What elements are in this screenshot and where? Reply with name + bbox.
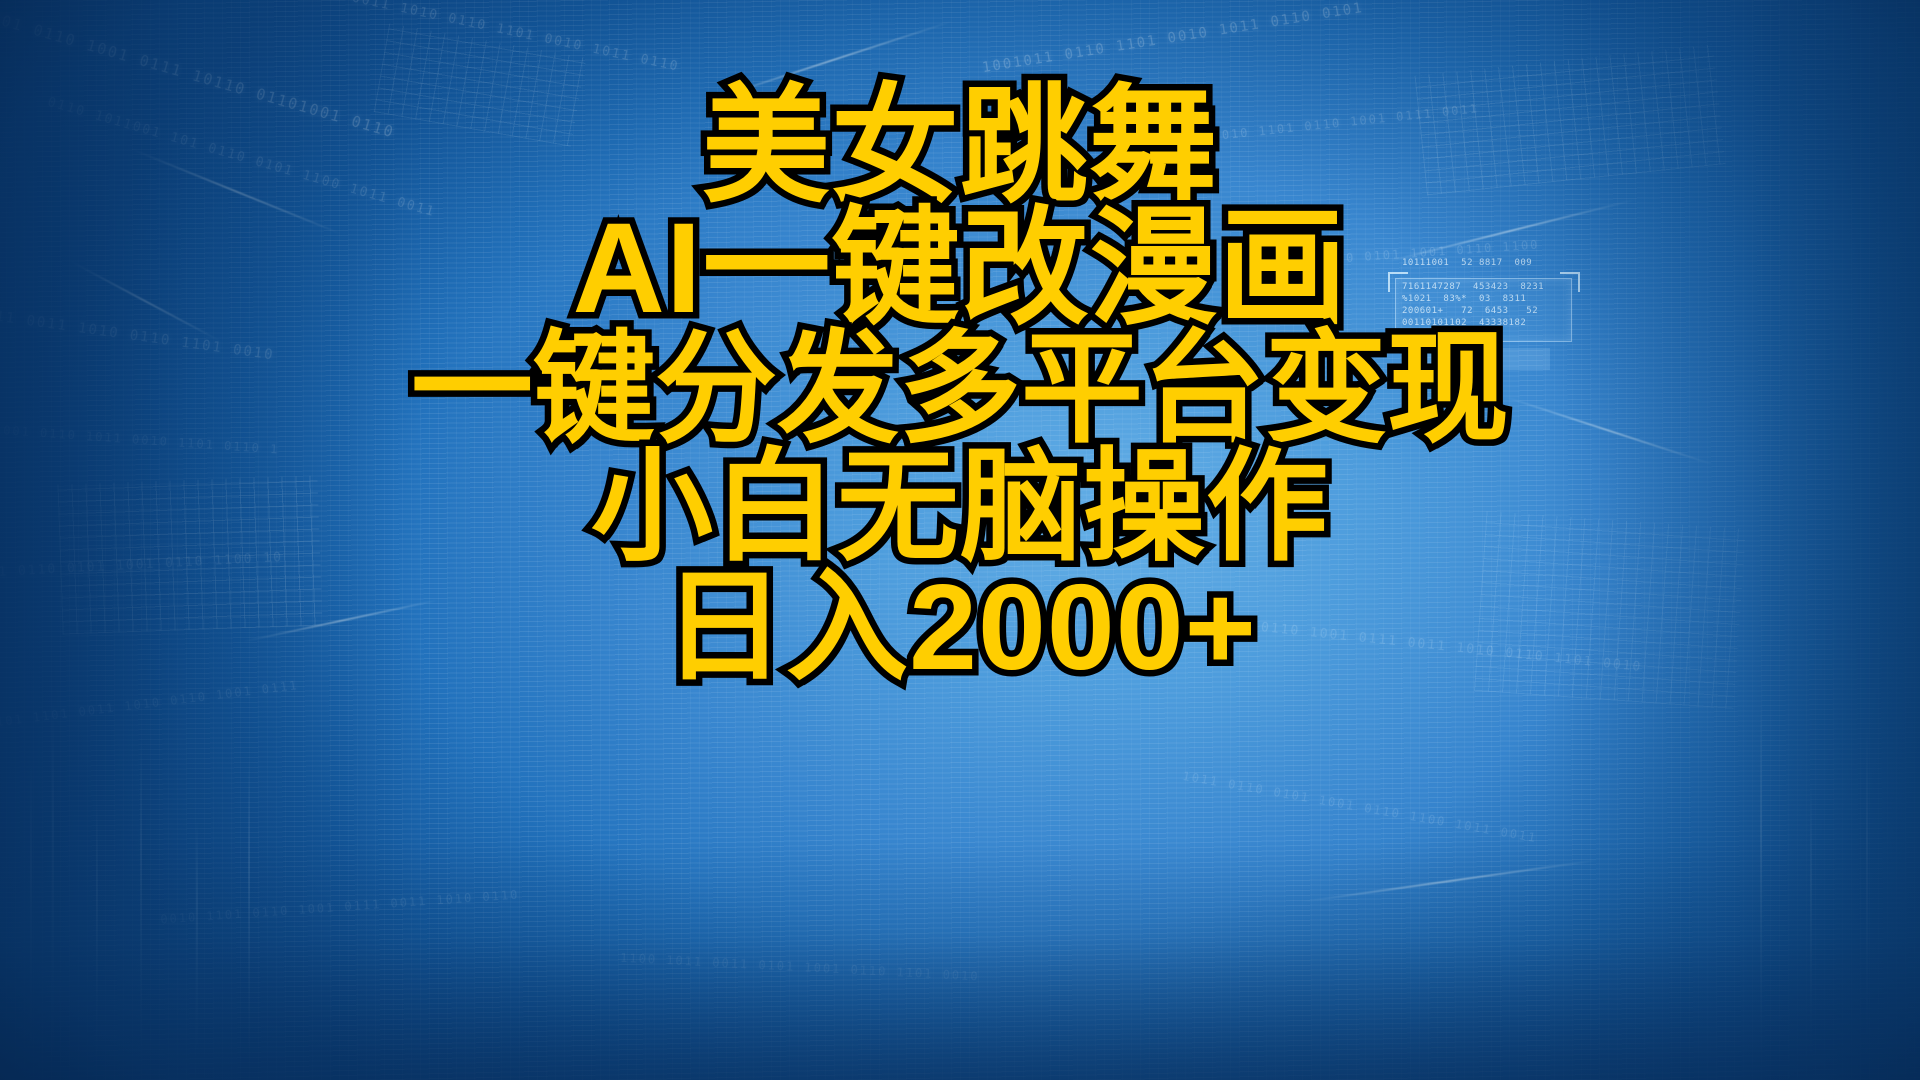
promo-thumbnail-canvas: 1011001 0110 1001 0111 10110 01101001 01… — [0, 0, 1920, 1080]
headline-line-4: 小白无脑操作 — [0, 442, 1920, 574]
headline-line-3: 一键分发多平台变现 — [0, 324, 1920, 456]
headline-line-5: 日入2000+ — [0, 562, 1920, 694]
headline-block: 美女跳舞 AI一键改漫画 一键分发多平台变现 小白无脑操作 日入2000+ — [0, 78, 1920, 694]
headline-line-1: 美女跳舞 — [0, 78, 1920, 216]
headline-line-2: AI一键改漫画 — [0, 200, 1920, 338]
